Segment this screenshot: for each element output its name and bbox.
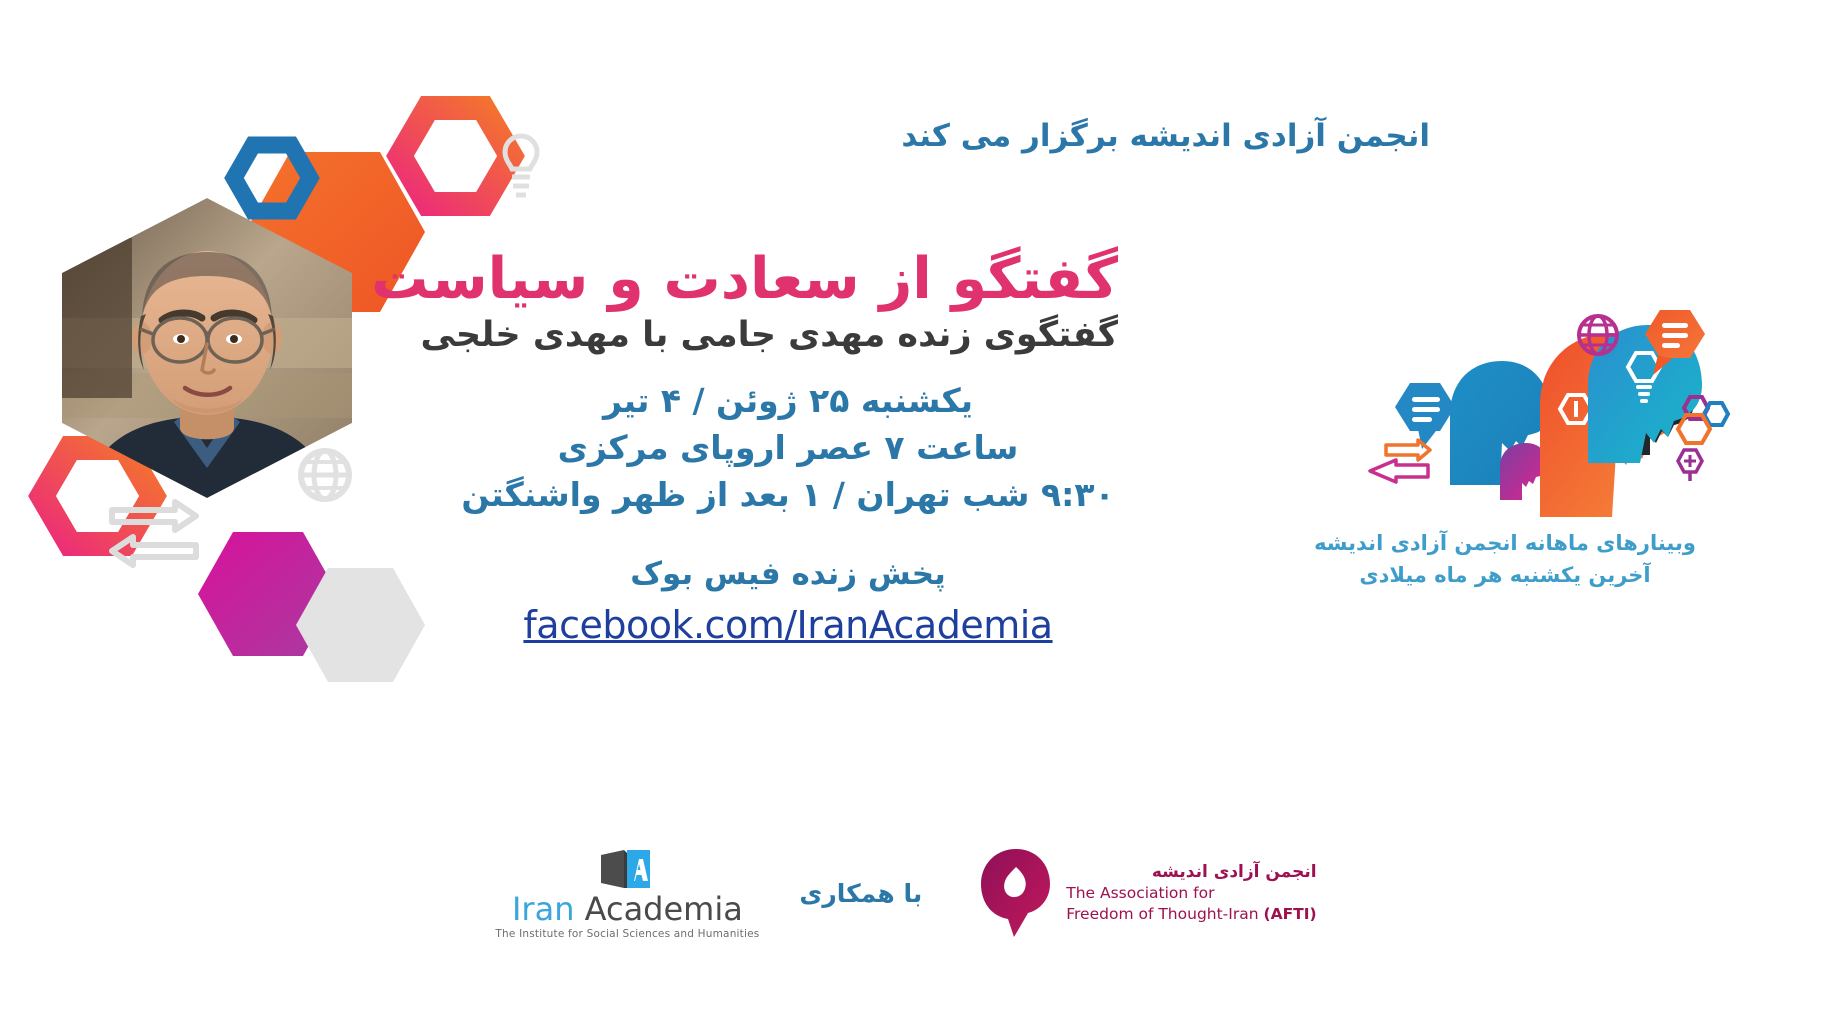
open-book-icon <box>598 847 656 891</box>
ia-word-iran: Iran <box>512 890 574 928</box>
afti-en-line2-text: Freedom of Thought-Iran <box>1066 905 1258 923</box>
collaboration-label: با همکاری <box>799 879 922 908</box>
right-caption-line-1: وبینارهای ماهانه انجمن آزادی اندیشه <box>1290 528 1720 560</box>
event-time-cet: ساعت ۷ عصر اروپای مرکزی <box>458 425 1118 472</box>
afti-abbreviation: (AFTI) <box>1263 905 1316 923</box>
afti-name-fa: انجمن آزادی اندیشه <box>1066 863 1316 883</box>
page-title: گفتگو از سعادت و سیاست <box>458 248 1118 312</box>
footer-logos: Iran Academia The Institute for Social S… <box>0 828 1828 958</box>
iran-academia-tagline: The Institute for Social Sciences and Hu… <box>495 928 759 940</box>
event-date: یکشنبه ۲۵ ژوئن / ۴ تیر <box>458 378 1118 425</box>
main-content: گفتگو از سعادت و سیاست گفتگوی زنده مهدی … <box>458 248 1118 647</box>
globe-icon <box>301 451 349 499</box>
afti-name-en-line-1: The Association for <box>1066 884 1316 902</box>
broadcast-label: پخش زنده فیس بوک <box>458 554 1118 594</box>
page-subtitle: گفتگوی زنده مهدی جامی با مهدی خلجی <box>458 314 1118 356</box>
right-caption-line-2: آخرین یکشنبه هر ماه میلادی <box>1290 560 1720 592</box>
hexagon-pink-outline-top <box>400 108 511 204</box>
afti-flame-mark-icon <box>978 847 1054 939</box>
facebook-link[interactable]: facebook.com/IranAcademia <box>458 603 1118 647</box>
afti-name-en-line-2: Freedom of Thought-Iran (AFTI) <box>1066 905 1316 923</box>
talking-heads-illustration <box>1350 255 1750 525</box>
exchange-arrows-colored-icon <box>1370 440 1430 482</box>
afti-logo[interactable]: انجمن آزادی اندیشه The Association for F… <box>978 847 1316 939</box>
ia-word-academia: Academia <box>585 890 743 928</box>
iran-academia-wordmark: Iran Academia <box>512 893 743 925</box>
iran-academia-logo[interactable]: Iran Academia The Institute for Social S… <box>511 847 743 940</box>
event-time-tehran-washington: ۹:۳۰ شب تهران / ۱ بعد از ظهر واشنگتن <box>458 472 1118 519</box>
afti-text-column: انجمن آزادی اندیشه The Association for F… <box>1066 863 1316 923</box>
add-hexagon-icon <box>1678 450 1702 481</box>
right-caption: وبینارهای ماهانه انجمن آزادی اندیشه آخری… <box>1290 528 1720 591</box>
hexagon-pink-outline-bottom <box>42 448 153 544</box>
speech-bubble-blue <box>1395 383 1455 449</box>
webinar-poster: انجمن آزادی اندیشه برگزار می کند گفتگو ا… <box>0 0 1828 1016</box>
organizer-header: انجمن آزادی اندیشه برگزار می کند <box>901 118 1430 154</box>
